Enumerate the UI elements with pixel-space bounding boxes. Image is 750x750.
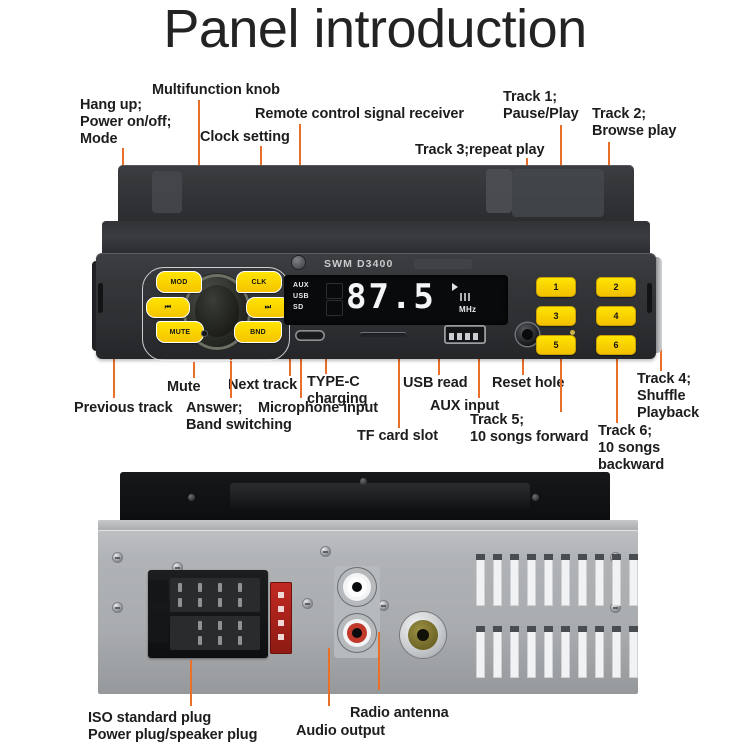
- backplate-notch-left: [152, 171, 182, 213]
- callout-radio-antenna: Radio antenna: [350, 705, 449, 722]
- right-vent-slit: [647, 283, 652, 313]
- microphone-input-port: [202, 331, 207, 336]
- callout-track-3: Track 3;repeat play: [415, 142, 544, 159]
- radio-antenna-jack[interactable]: [400, 612, 446, 658]
- tf-card-slot[interactable]: [360, 332, 406, 339]
- previous-track-button[interactable]: ⏮: [146, 297, 190, 318]
- hood-screw-right: [532, 494, 539, 501]
- leader-mute: [193, 362, 195, 378]
- callout-track-4: Track 4; Shuffle Playback: [637, 371, 699, 422]
- metal-chassis: [98, 530, 638, 694]
- callout-audio-output: Audio output: [296, 723, 385, 740]
- band-button[interactable]: BND: [234, 321, 282, 343]
- iso-ear-bottom: [148, 620, 168, 642]
- hood-screw-center: [360, 478, 367, 485]
- preset-button-2[interactable]: 2: [596, 277, 636, 297]
- callout-reset-hole: Reset hole: [492, 375, 564, 392]
- callout-clock-setting: Clock setting: [200, 129, 290, 146]
- front-panel-unit: SWM D3400 MOD CLK ⏮ ⏭ MUTE BND AUXUSBSD …: [96, 165, 656, 363]
- play-indicator-icon: [452, 283, 458, 291]
- backplate-notch-right: [512, 169, 604, 217]
- callout-mute: Mute: [167, 379, 200, 396]
- leader-audio-output: [328, 648, 330, 706]
- remote-receiver-icon: [292, 256, 305, 269]
- lcd-frequency-value: 87.5: [346, 277, 436, 317]
- brand-label: SWM D3400: [324, 258, 393, 270]
- rear-top-hood: [120, 472, 610, 524]
- rca-output-white[interactable]: [338, 568, 376, 606]
- signal-bars-icon: [460, 293, 470, 301]
- leader-iso-plug: [190, 660, 192, 706]
- preset-button-3[interactable]: 3: [536, 306, 576, 326]
- lcd-segment-placeholder: [326, 283, 342, 315]
- callout-track-1: Track 1; Pause/Play: [503, 89, 579, 123]
- ventilation-slots: [476, 554, 636, 688]
- iso-pin-row-bottom: [170, 616, 260, 650]
- preset-button-4[interactable]: 4: [596, 306, 636, 326]
- callout-type-c-charging: TYPE-C charging: [307, 374, 367, 408]
- type-c-charging-port[interactable]: [295, 330, 325, 341]
- fuse-holder: [270, 582, 292, 654]
- hood-screw-left: [188, 494, 195, 501]
- lcd-display: AUXUSBSD 87.5 MHz: [284, 275, 508, 325]
- mod-button[interactable]: MOD: [156, 271, 202, 293]
- leader-radio-antenna: [378, 632, 380, 690]
- iso-ear-top: [148, 580, 168, 602]
- chassis-screw-tl: [112, 552, 123, 563]
- callout-hang-up-power-mode: Hang up; Power on/off; Mode: [80, 97, 171, 148]
- callout-remote-receiver: Remote control signal receiver: [255, 106, 464, 123]
- backplate-notch-mid: [486, 169, 512, 213]
- callout-iso-standard-plug: ISO standard plug Power plug/speaker plu…: [88, 710, 257, 744]
- callout-track-6: Track 6; 10 songs backward: [598, 423, 664, 474]
- callout-track-5: Track 5; 10 songs forward: [470, 412, 588, 446]
- preset-button-6[interactable]: 6: [596, 335, 636, 355]
- callout-track-2: Track 2; Browse play: [592, 106, 676, 140]
- callout-multifunction-knob: Multifunction knob: [152, 82, 280, 99]
- chassis-screw-ml: [112, 602, 123, 613]
- callout-next-track: Next track: [228, 377, 297, 394]
- chassis-screw-center: [302, 598, 313, 609]
- rear-hood-slot: [230, 483, 530, 509]
- callout-previous-track: Previous track: [74, 400, 173, 417]
- left-vent-slit: [98, 283, 103, 313]
- knob-cluster: MOD CLK ⏮ ⏭ MUTE BND: [158, 271, 270, 355]
- iso-pin-row-top: [170, 578, 260, 612]
- lcd-mode-indicators: AUXUSBSD: [293, 281, 309, 314]
- clk-button[interactable]: CLK: [236, 271, 282, 293]
- callout-tf-card-slot: TF card slot: [357, 428, 438, 445]
- mute-button[interactable]: MUTE: [156, 321, 204, 343]
- lcd-frequency-unit: MHz: [459, 305, 476, 314]
- rca-output-red[interactable]: [338, 614, 376, 652]
- preset-button-5[interactable]: 5: [536, 335, 576, 355]
- brand-plate: [414, 259, 472, 269]
- callout-usb-read: USB read: [403, 375, 467, 392]
- rear-chassis-unit: [92, 472, 652, 694]
- preset-button-1[interactable]: 1: [536, 277, 576, 297]
- iso-standard-plug[interactable]: [148, 570, 268, 658]
- chassis-screw-top-center: [320, 546, 331, 557]
- page-title: Panel introduction: [0, 0, 750, 60]
- usb-port[interactable]: [444, 325, 486, 344]
